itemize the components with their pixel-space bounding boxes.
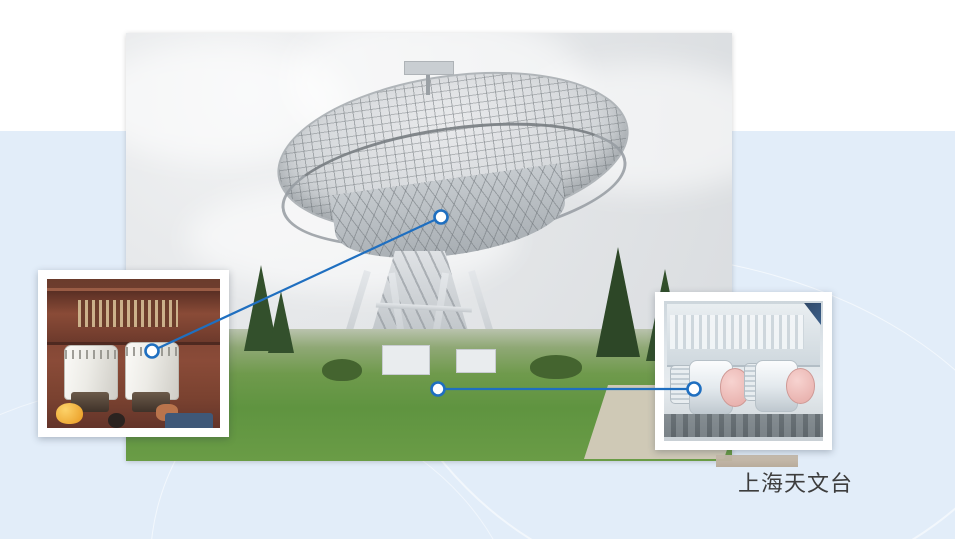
decorative-tan-bar xyxy=(716,455,798,467)
rusty-machinery-scene xyxy=(47,279,220,428)
worker-head-1 xyxy=(108,413,125,428)
callout-photo-left[interactable] xyxy=(38,270,229,437)
photo-caption: 上海天文台 xyxy=(738,471,853,497)
white-machinery-scene xyxy=(664,301,823,441)
shrub-3 xyxy=(530,355,582,379)
shrub-2 xyxy=(322,359,362,381)
building-2 xyxy=(456,349,496,373)
callout-right-image xyxy=(664,301,823,441)
gear-teeth-row xyxy=(78,300,178,327)
worker-body xyxy=(165,413,213,428)
cooling-fins xyxy=(670,315,804,349)
slide-canvas: 上海天文台 xyxy=(0,0,955,539)
telescope-dish-assembly xyxy=(276,75,626,275)
mounting-rail xyxy=(664,414,823,436)
tree-conifer-3 xyxy=(596,247,640,357)
gearbox-right-bolts xyxy=(126,347,178,356)
hard-hat-icon xyxy=(56,403,84,424)
motor-right-endcap xyxy=(786,368,815,404)
callout-photo-right[interactable] xyxy=(655,292,832,450)
gearbox-left-bolts xyxy=(65,350,117,359)
building-1 xyxy=(382,345,430,375)
tree-conifer-2 xyxy=(268,291,294,353)
subreflector xyxy=(404,61,454,75)
callout-left-image xyxy=(47,279,220,428)
rail-blocks xyxy=(664,414,823,436)
